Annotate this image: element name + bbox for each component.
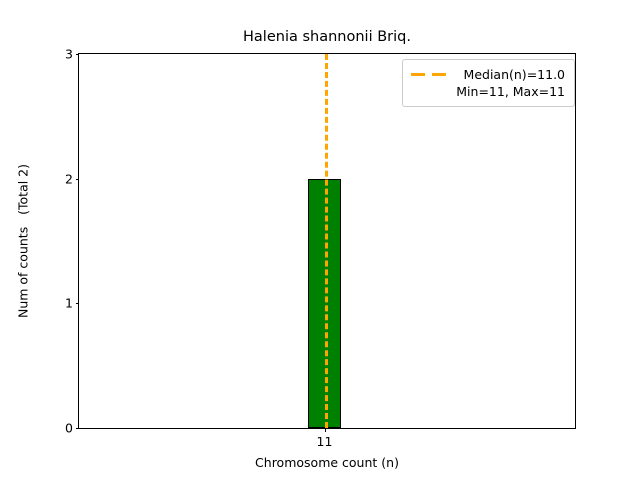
ytick-label-0: 0 [65,421,73,436]
chart-figure: Halenia shannonii Briq. 0 1 2 3 Num of c… [0,0,640,480]
ytick-label-3: 3 [65,47,73,62]
xtick-mark-0 [325,428,326,432]
ytick-mark-0 [76,428,80,429]
ytick-label-1: 1 [65,296,73,311]
chart-title: Halenia shannonii Briq. [78,28,576,46]
legend-minmax-label: Min=11, Max=11 [456,83,565,100]
y-axis-label: Num of counts (Total 2) [16,164,31,318]
ytick-mark-1 [76,303,80,304]
ytick-label-2: 2 [65,171,73,186]
ytick-mark-3 [76,54,80,55]
plot-area: 0 1 2 3 Num of counts (Total 2) 11 Chrom… [78,53,576,429]
x-axis-label: Chromosome count (n) [255,455,399,470]
median-line [325,54,328,428]
legend-median-label: Median(n)=11.0 [464,66,565,83]
legend-dashed-line-icon [411,67,448,83]
legend-text-block: Median(n)=11.0 Min=11, Max=11 [456,66,565,100]
chart-legend: Median(n)=11.0 Min=11, Max=11 [402,59,575,107]
xtick-label-0: 11 [317,434,333,449]
ytick-mark-2 [76,179,80,180]
